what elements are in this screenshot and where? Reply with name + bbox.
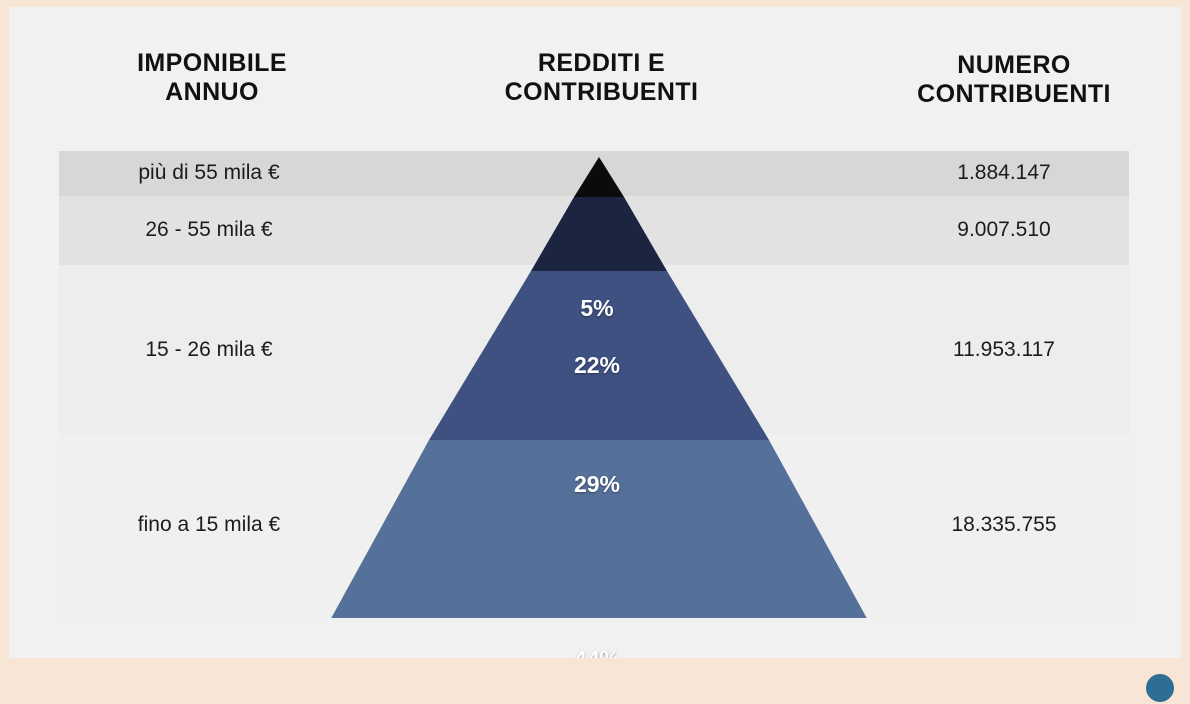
income-bracket-label: fino a 15 mila € <box>64 513 354 537</box>
column-header-imponibile-annuo: IMPONIBILE ANNUO <box>64 49 360 108</box>
decorative-dot <box>1144 672 1176 704</box>
slide-canvas: IMPONIBILE ANNUO REDDITI E CONTRIBUENTI … <box>9 7 1181 658</box>
column-header-redditi-e-contribuenti: REDDITI E CONTRIBUENTI <box>461 49 742 108</box>
taxpayer-count-value: 1.884.147 <box>854 161 1154 185</box>
taxpayer-count-value: 18.335.755 <box>854 513 1154 537</box>
pyramid-segment-second <box>531 197 667 271</box>
pyramid-percent-label: 44% <box>537 646 657 658</box>
pyramid-svg <box>314 143 874 618</box>
header-line-1: NUMERO <box>864 51 1164 80</box>
pyramid-segment-apex <box>574 157 624 197</box>
header-line-1: REDDITI E <box>461 49 742 78</box>
taxpayer-count-value: 9.007.510 <box>854 218 1154 242</box>
income-bracket-label: 15 - 26 mila € <box>64 338 354 362</box>
pyramid-segment-third <box>429 271 769 440</box>
income-bracket-label: più di 55 mila € <box>64 161 354 185</box>
income-bracket-label: 26 - 55 mila € <box>64 218 354 242</box>
pyramid-chart: 5% 22% 29% 44% <box>314 143 874 618</box>
header-line-2: CONTRIBUENTI <box>864 80 1164 109</box>
taxpayer-count-value: 11.953.117 <box>854 338 1154 362</box>
header-line-2: CONTRIBUENTI <box>461 78 742 107</box>
slide-frame: IMPONIBILE ANNUO REDDITI E CONTRIBUENTI … <box>0 0 1190 683</box>
pyramid-segment-base <box>328 440 870 618</box>
column-header-numero-contribuenti: NUMERO CONTRIBUENTI <box>864 51 1164 110</box>
header-line-1: IMPONIBILE <box>64 49 360 78</box>
header-line-2: ANNUO <box>64 78 360 107</box>
